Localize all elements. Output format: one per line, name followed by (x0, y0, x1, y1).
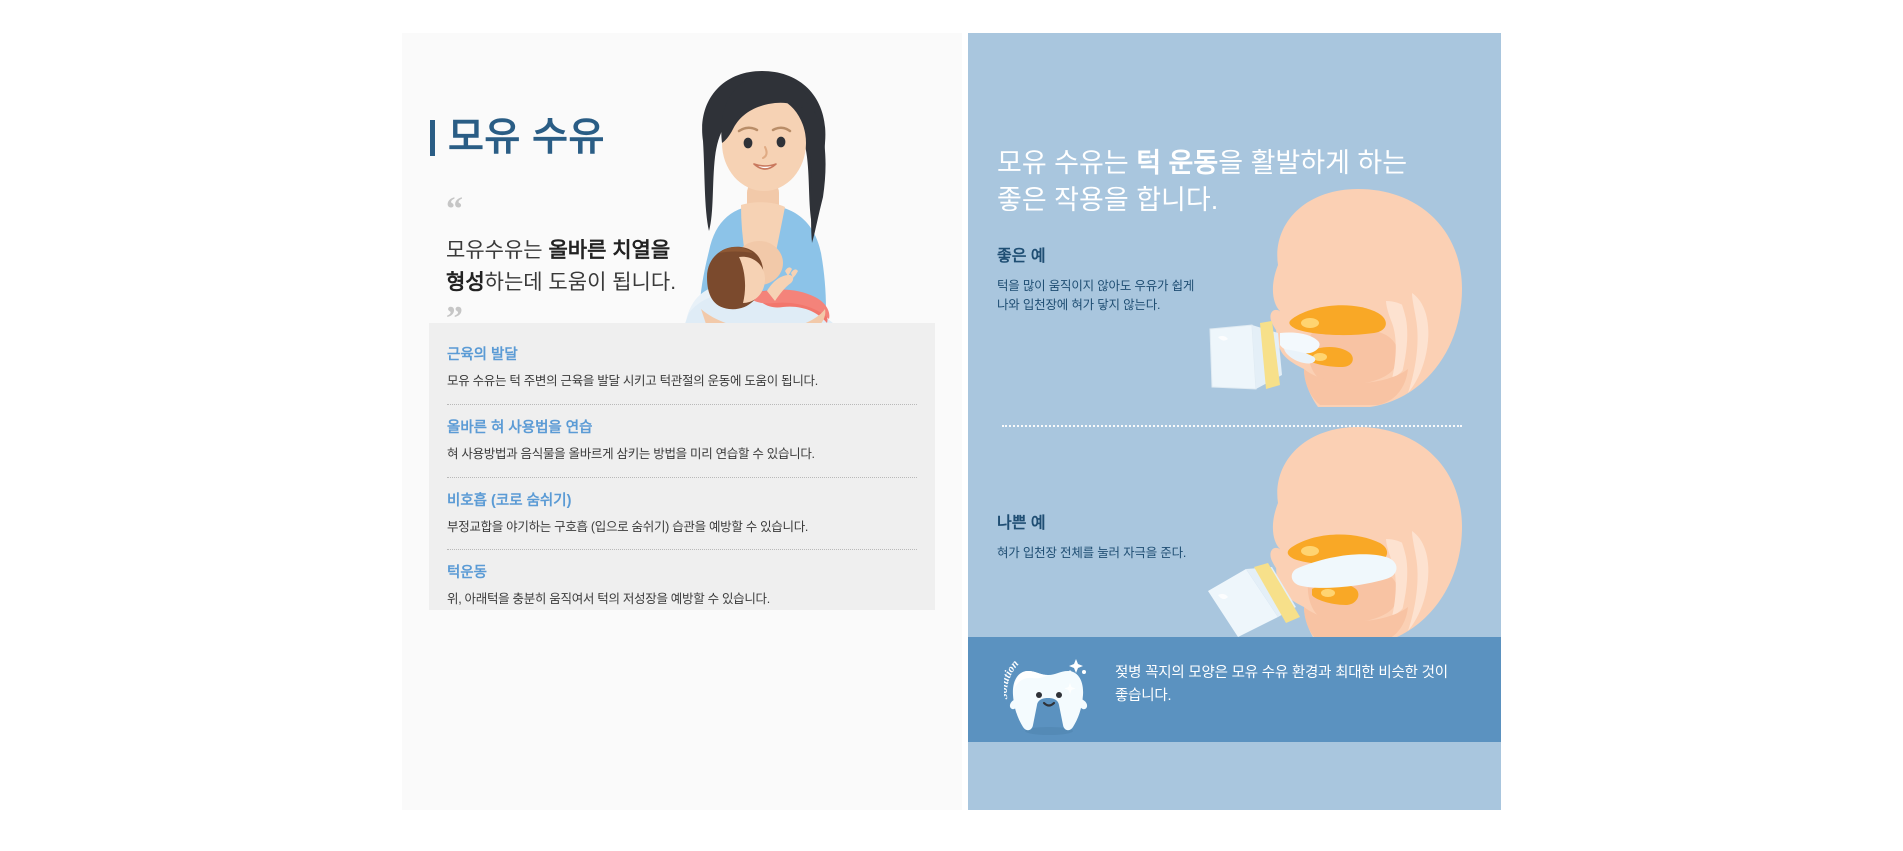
heading-line2: 좋은 작용을 합니다. (997, 185, 1218, 215)
right-panel-heading: 모유 수유는 턱 운동을 활발하게 하는 좋은 작용을 합니다. (997, 145, 1487, 218)
example-good-desc: 턱을 많이 움직이지 않아도 우유가 쉽게 나와 입천장에 혀가 닿지 않는다. (997, 277, 1194, 316)
title-accent-bar (430, 120, 435, 156)
example-good-title: 좋은 예 (997, 249, 1194, 265)
heading-part2: 을 활발하게 하는 (1218, 148, 1407, 178)
example-good: 좋은 예 턱을 많이 움직이지 않아도 우유가 쉽게 나와 입천장에 혀가 닿지… (997, 249, 1194, 316)
list-item-title: 턱운동 (447, 566, 917, 582)
quote-line1-bold: 올바른 치열을 (548, 239, 670, 262)
list-divider (447, 549, 917, 551)
title-text: 모유 수유 (448, 118, 605, 157)
solution-text-line2: 좋습니다. (1115, 688, 1171, 704)
list-item-title: 비호흡 (코로 숨쉬기) (447, 494, 917, 510)
list-item-title: 올바른 혀 사용법을 연습 (447, 421, 917, 437)
list-item-title: 근육의 발달 (447, 348, 917, 364)
list-item: 올바른 혀 사용법을 연습 혀 사용방법과 음식물을 올바르게 삼키는 방법을 … (447, 421, 917, 463)
quote-text: 모유수유는 올바른 치열을 형성하는데 도움이 됩니다. (446, 235, 736, 299)
left-panel: 모유 수유 (402, 33, 962, 810)
list-divider (447, 404, 917, 406)
heading-part1: 모유 수유는 (997, 148, 1136, 178)
infographic-stage: 모유 수유 (0, 0, 1903, 851)
list-item: 턱운동 위, 아래턱을 충분히 움직여서 턱의 저성장을 예방할 수 있습니다. (447, 566, 917, 608)
page-title: 모유 수유 (430, 118, 605, 157)
list-item-desc: 모유 수유는 턱 주변의 근육을 발달 시키고 턱관절의 운동에 도움이 됩니다… (447, 373, 917, 390)
list-item: 근육의 발달 모유 수유는 턱 주변의 근육을 발달 시키고 턱관절의 운동에 … (447, 348, 917, 390)
quote-line1-plain: 모유수유는 (446, 239, 548, 262)
benefits-list-card: 근육의 발달 모유 수유는 턱 주변의 근육을 발달 시키고 턱관절의 운동에 … (429, 323, 935, 610)
baby-head-bad-bottle-illustration (1200, 411, 1490, 661)
list-divider (447, 477, 917, 479)
quote-block: “ 모유수유는 올바른 치열을 형성하는데 도움이 됩니다. ” (446, 198, 736, 330)
example-bad-desc-line1: 혀가 입천장 전체를 눌러 자극을 준다. (997, 546, 1186, 560)
quote-line2-plain: 하는데 도움이 됩니다. (485, 271, 676, 294)
solution-text: 젖병 꼭지의 모양은 모유 수유 환경과 최대한 비슷한 것이 좋습니다. (1115, 662, 1470, 708)
quote-open-icon: “ (446, 198, 736, 222)
smiling-tooth-mascot: Solution (1004, 645, 1094, 737)
list-item: 비호흡 (코로 숨쉬기) 부정교합을 야기하는 구호흡 (입으로 숨쉬기) 습관… (447, 494, 917, 536)
quote-line2-bold: 형성 (446, 271, 485, 294)
list-item-desc: 위, 아래턱을 충분히 움직여서 턱의 저성장을 예방할 수 있습니다. (447, 591, 917, 608)
example-good-desc-line2: 나와 입천장에 혀가 닿지 않는다. (997, 298, 1160, 312)
example-good-desc-line1: 턱을 많이 움직이지 않아도 우유가 쉽게 (997, 279, 1194, 293)
heading-bold: 턱 운동 (1136, 148, 1218, 178)
solution-text-line1: 젖병 꼭지의 모양은 모유 수유 환경과 최대한 비슷한 것이 (1115, 665, 1448, 681)
section-dotted-divider (1002, 425, 1462, 427)
example-bad-desc: 혀가 입천장 전체를 눌러 자극을 준다. (997, 544, 1186, 563)
list-item-desc: 혀 사용방법과 음식물을 올바르게 삼키는 방법을 미리 연습할 수 있습니다. (447, 446, 917, 463)
right-panel: 모유 수유는 턱 운동을 활발하게 하는 좋은 작용을 합니다. (968, 33, 1501, 810)
example-bad: 나쁜 예 혀가 입천장 전체를 눌러 자극을 준다. (997, 516, 1186, 563)
solution-banner: Solution (968, 637, 1501, 742)
example-bad-title: 나쁜 예 (997, 516, 1186, 532)
list-item-desc: 부정교합을 야기하는 구호흡 (입으로 숨쉬기) 습관을 예방할 수 있습니다. (447, 519, 917, 536)
